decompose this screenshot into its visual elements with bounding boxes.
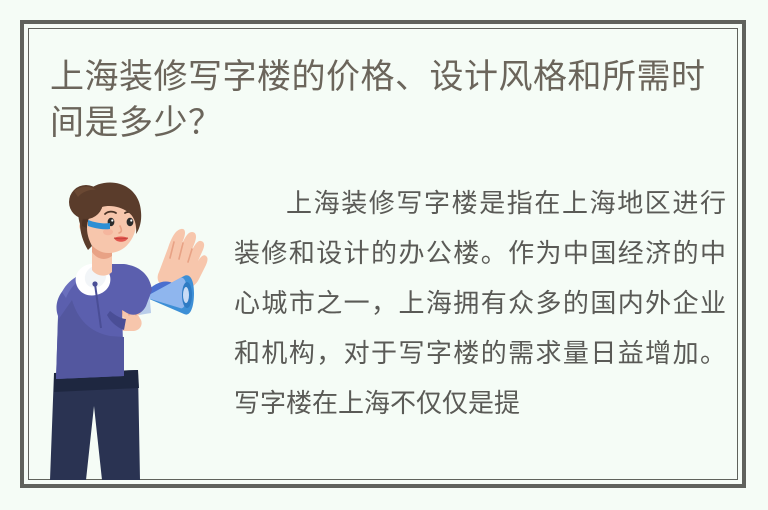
illustration-woman-with-megaphone xyxy=(50,180,210,480)
page-root: 上海装修写字楼的价格、设计风格和所需时间是多少？ xyxy=(0,0,768,510)
pants-shape xyxy=(50,370,140,480)
article-content: 上海装修写字楼的价格、设计风格和所需时间是多少？ xyxy=(28,28,738,480)
article-body-text: 上海装修写字楼是指在上海地区进行装修和设计的办公楼。作为中国经济的中心城市之一，… xyxy=(234,178,726,428)
page-title: 上海装修写字楼的价格、设计风格和所需时间是多少？ xyxy=(50,54,730,146)
